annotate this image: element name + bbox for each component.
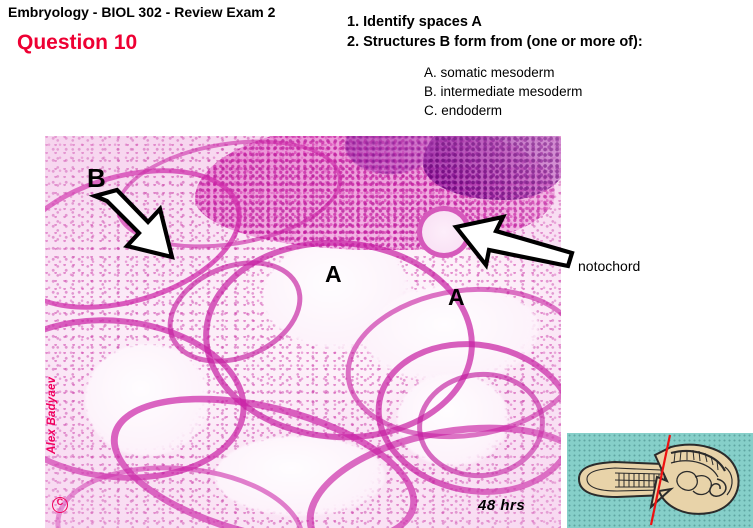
copyright-icon: C	[52, 497, 68, 513]
figure-stage-label: 48 hrs	[478, 497, 525, 514]
answer-choice-b: B. intermediate mesoderm	[424, 82, 582, 101]
embryo-head-region	[651, 445, 739, 514]
question-prompt: 1. Identify spaces A 2. Structures B for…	[347, 12, 643, 52]
inset-embryo-drawing	[567, 433, 753, 528]
prompt-line-2: 2. Structures B form from (one or more o…	[347, 32, 643, 52]
notochord-callout-label: notochord	[578, 258, 640, 274]
course-title: Embryology - BIOL 302 - Review Exam 2	[8, 4, 275, 20]
answer-choice-a: A. somatic mesoderm	[424, 63, 582, 82]
copyright-mark-letter: C	[53, 497, 67, 508]
page-title: Question 10	[17, 31, 137, 55]
histology-micrograph	[45, 136, 561, 528]
answer-choice-c: C. endoderm	[424, 101, 582, 120]
figure-label-a-1: A	[325, 263, 342, 286]
prompt-line-1: 1. Identify spaces A	[347, 12, 643, 32]
figure-label-b: B	[87, 165, 106, 191]
figure-label-a-2: A	[448, 286, 465, 309]
author-credit: Alex Badyaev	[46, 364, 58, 454]
embryo-orientation-inset	[567, 433, 753, 528]
answer-choice-list: A. somatic mesoderm B. intermediate meso…	[424, 63, 582, 120]
notochord-structure	[417, 206, 471, 258]
